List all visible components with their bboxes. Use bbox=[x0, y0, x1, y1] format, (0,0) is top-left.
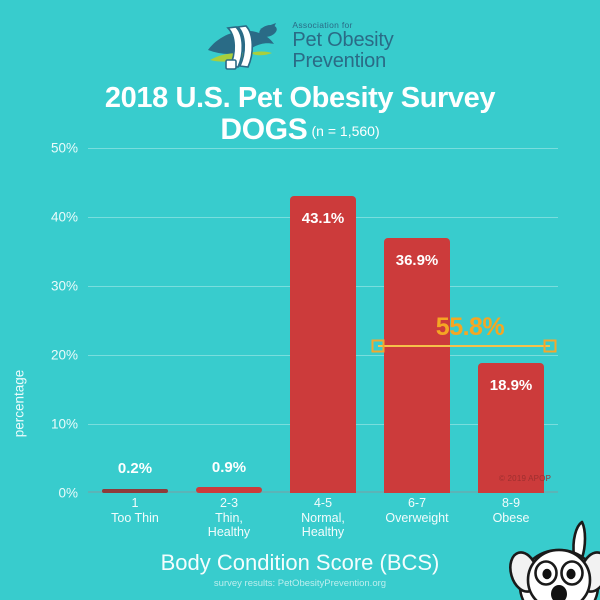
x-axis-label-8-9: 8-9 Obese bbox=[456, 496, 566, 525]
y-axis-title: percentage bbox=[12, 344, 27, 464]
logo-association-line: Association for bbox=[292, 21, 352, 30]
copyright-text: © 2019 APOP bbox=[499, 474, 551, 483]
infographic-canvas: Association for Pet Obesity Prevention 2… bbox=[0, 0, 600, 600]
y-axis-tick-label: 0% bbox=[58, 486, 78, 501]
x-axis-title: Body Condition Score (BCS) bbox=[0, 550, 600, 576]
page-subtitle: DOGS(n = 1,560) bbox=[0, 113, 600, 147]
bar-value-2-3: 0.9% bbox=[212, 459, 246, 476]
bar-4-5 bbox=[290, 196, 356, 493]
gridline bbox=[88, 148, 558, 149]
x-axis-labels: 1 Too Thin2-3 Thin, Healthy4-5 Normal, H… bbox=[88, 496, 558, 546]
dog-with-measuring-tape-icon bbox=[206, 20, 284, 72]
y-axis-tick-label: 10% bbox=[51, 417, 78, 432]
bracket-cap-right bbox=[544, 340, 557, 353]
bar-value-1: 0.2% bbox=[118, 460, 152, 477]
page-title: 2018 U.S. Pet Obesity Survey bbox=[0, 82, 600, 115]
y-axis-tick-label: 30% bbox=[51, 279, 78, 294]
bar-value-8-9: 18.9% bbox=[490, 377, 533, 394]
bar-value-6-7: 36.9% bbox=[396, 252, 439, 269]
y-axis: percentage 0%10%20%30%40%50% bbox=[0, 148, 84, 493]
bar-1 bbox=[102, 489, 168, 493]
bar-6-7 bbox=[384, 238, 450, 493]
plot-area: 0.2%0.9%43.1%36.9%18.9% 55.8% bbox=[88, 148, 558, 493]
sample-size-label: (n = 1,560) bbox=[312, 123, 380, 139]
apop-logo: Association for Pet Obesity Prevention bbox=[0, 14, 600, 78]
species-title: DOGS bbox=[220, 113, 307, 146]
logo-name-line2: Prevention bbox=[292, 51, 386, 71]
logo-name-line1: Pet Obesity bbox=[292, 30, 393, 50]
y-axis-tick-label: 40% bbox=[51, 210, 78, 225]
survey-source-note: survey results: PetObesityPrevention.org bbox=[0, 578, 600, 589]
bar-value-4-5: 43.1% bbox=[302, 210, 345, 227]
bracket-line bbox=[378, 345, 550, 347]
y-axis-tick-label: 20% bbox=[51, 348, 78, 363]
y-axis-tick-label: 50% bbox=[51, 141, 78, 156]
bracket-cap-left bbox=[372, 340, 385, 353]
bracket-value-label: 55.8% bbox=[436, 313, 504, 342]
bar-2-3 bbox=[196, 487, 262, 493]
